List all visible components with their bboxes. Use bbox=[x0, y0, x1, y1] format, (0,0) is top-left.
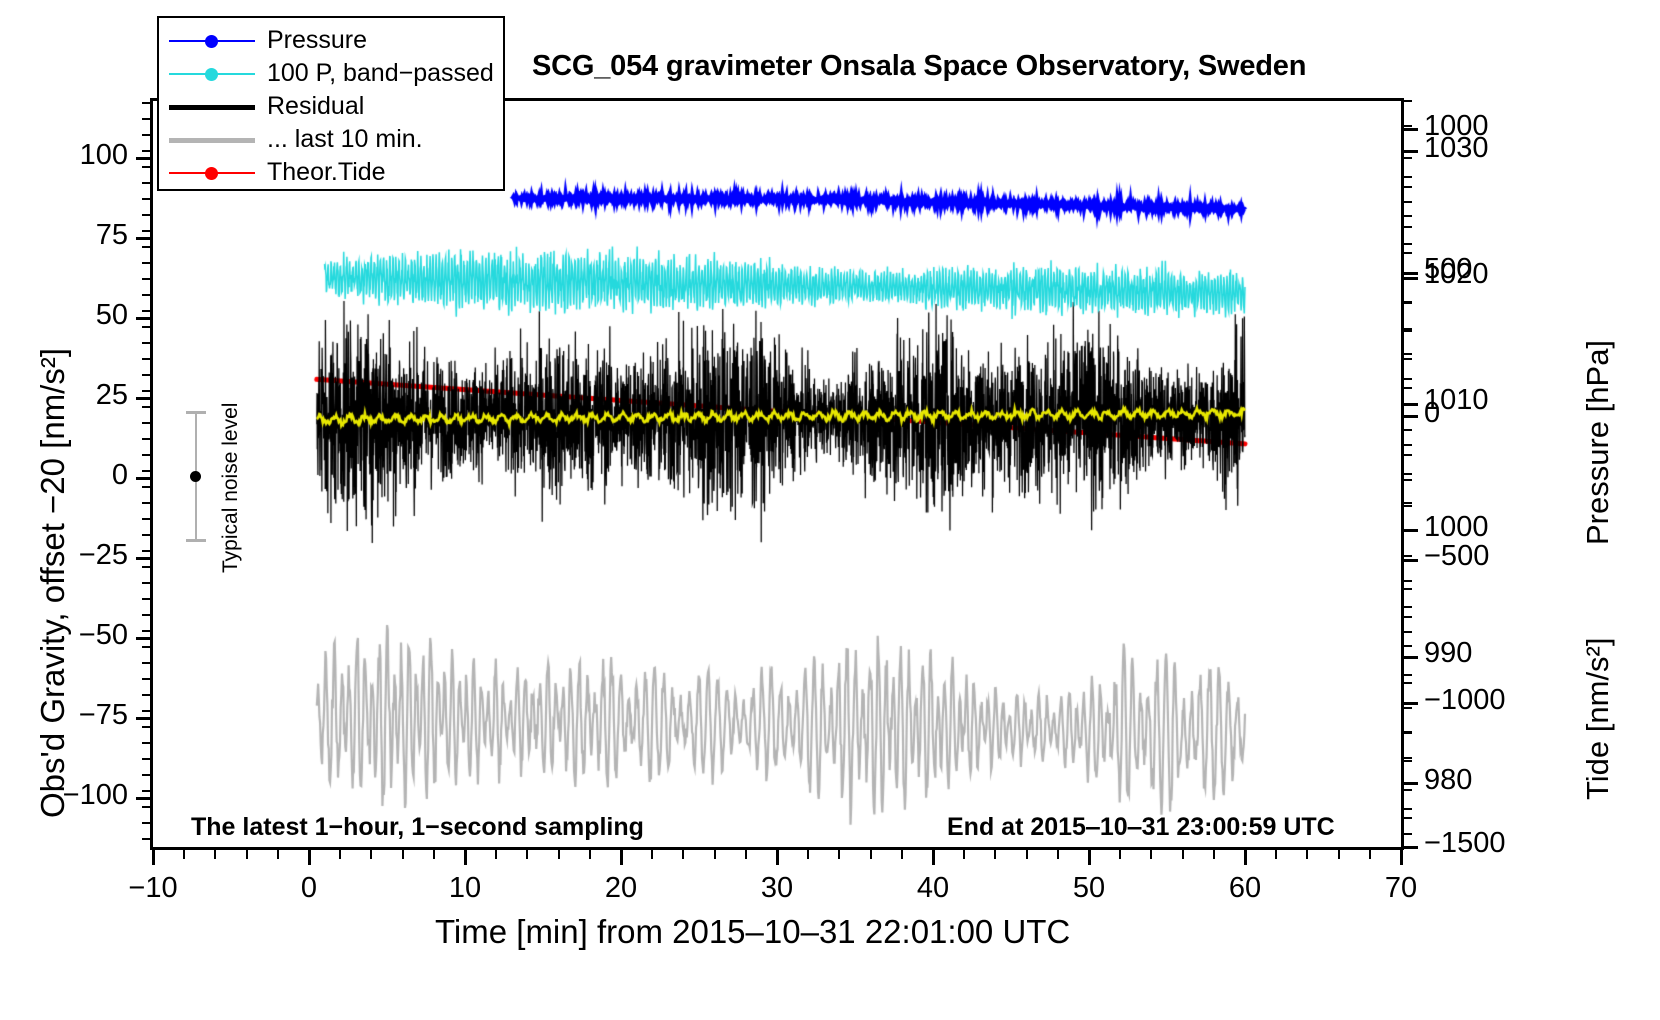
tick-mark bbox=[1404, 301, 1412, 303]
tick-mark bbox=[142, 374, 150, 376]
tick-mark bbox=[142, 662, 150, 664]
legend-swatch-theortide bbox=[169, 163, 255, 183]
tick-mark bbox=[433, 850, 435, 859]
tick-mark bbox=[142, 390, 150, 392]
tick-mark bbox=[1404, 616, 1412, 618]
tick-mark bbox=[464, 850, 467, 865]
note-latest-sampling: The latest 1−hour, 1−second sampling bbox=[191, 813, 644, 842]
tick-mark bbox=[932, 850, 935, 865]
tick-mark bbox=[682, 850, 684, 859]
plot-area: The latest 1−hour, 1−second sampling End… bbox=[150, 98, 1404, 850]
y-tick-label-pressure: 990 bbox=[1424, 637, 1472, 670]
x-tick-label: 40 bbox=[863, 872, 1003, 905]
tick-mark bbox=[1404, 215, 1412, 217]
tick-mark bbox=[1404, 473, 1412, 475]
tick-mark bbox=[142, 422, 150, 424]
tick-mark bbox=[142, 534, 150, 536]
legend-swatch-bandpassed bbox=[169, 64, 255, 84]
tick-mark bbox=[136, 557, 150, 560]
tick-mark bbox=[1404, 176, 1412, 178]
x-axis-title: Time [min] from 2015‒10‒31 22:01:00 UTC bbox=[435, 913, 1070, 951]
tick-mark bbox=[142, 838, 150, 840]
legend-marker bbox=[205, 68, 218, 81]
tick-mark bbox=[776, 850, 779, 865]
tick-mark bbox=[142, 726, 150, 728]
y-tick-label-tide: 0 bbox=[1424, 397, 1440, 430]
tick-mark bbox=[136, 317, 150, 320]
tick-mark bbox=[1404, 846, 1418, 849]
legend-swatch-pressure bbox=[169, 31, 255, 51]
legend-line bbox=[169, 138, 255, 143]
tick-mark bbox=[1400, 850, 1403, 865]
tick-mark bbox=[308, 850, 311, 865]
legend-item-last10[interactable]: ... last 10 min. bbox=[159, 123, 503, 156]
tick-mark bbox=[370, 850, 372, 859]
y-axis-title-left: Obs'd Gravity, offset −20 [nm/s²] bbox=[34, 348, 72, 818]
tick-mark bbox=[558, 850, 560, 859]
tick-mark bbox=[142, 294, 150, 296]
tick-mark bbox=[142, 166, 150, 168]
tick-mark bbox=[142, 598, 150, 600]
noise-level-dot bbox=[190, 471, 201, 482]
tick-mark bbox=[963, 850, 965, 859]
tick-mark bbox=[1404, 760, 1412, 762]
tick-mark bbox=[901, 850, 903, 859]
tick-mark bbox=[1404, 645, 1412, 647]
tick-mark bbox=[142, 550, 150, 552]
tick-mark bbox=[1404, 530, 1412, 532]
tick-mark bbox=[1275, 850, 1277, 859]
noise-level-label: Typical noise level bbox=[219, 403, 243, 573]
tick-mark bbox=[1404, 479, 1412, 481]
tick-mark bbox=[1404, 702, 1418, 705]
y-tick-label-tide: 1000 bbox=[1424, 110, 1489, 143]
tick-mark bbox=[1404, 731, 1412, 733]
tick-mark bbox=[589, 850, 591, 859]
legend-label-residual: Residual bbox=[255, 92, 364, 121]
tick-mark bbox=[651, 850, 653, 859]
y-tick-label-pressure: 1000 bbox=[1424, 511, 1489, 544]
tick-mark bbox=[1404, 150, 1418, 153]
tick-mark bbox=[136, 397, 150, 400]
tick-mark bbox=[1404, 243, 1412, 245]
tick-mark bbox=[1404, 415, 1418, 418]
tick-mark bbox=[142, 150, 150, 152]
tick-mark bbox=[142, 134, 150, 136]
x-tick-label: 10 bbox=[395, 872, 535, 905]
x-tick-label: 20 bbox=[551, 872, 691, 905]
tick-mark bbox=[994, 850, 996, 859]
y-axis-title-pressure: Pressure [hPa] bbox=[1580, 340, 1616, 545]
tick-mark bbox=[142, 262, 150, 264]
tick-mark bbox=[142, 678, 150, 680]
tick-mark bbox=[1404, 201, 1412, 203]
tick-mark bbox=[142, 822, 150, 824]
tick-mark bbox=[142, 710, 150, 712]
tick-mark bbox=[1404, 252, 1412, 254]
tick-mark bbox=[142, 502, 150, 504]
legend-swatch-last10 bbox=[169, 130, 255, 150]
tick-mark bbox=[838, 850, 840, 859]
y-tick-label-tide: 500 bbox=[1424, 253, 1472, 286]
tick-mark bbox=[1088, 850, 1091, 865]
tick-mark bbox=[136, 157, 150, 160]
tick-mark bbox=[1369, 850, 1371, 859]
tick-mark bbox=[1404, 403, 1418, 406]
tick-mark bbox=[495, 850, 497, 859]
y-tick-label-left: −25 bbox=[0, 539, 128, 572]
tick-mark bbox=[1404, 674, 1412, 676]
tick-mark bbox=[142, 230, 150, 232]
tick-mark bbox=[1306, 850, 1308, 859]
tick-mark bbox=[714, 850, 716, 859]
tick-mark bbox=[1404, 808, 1412, 810]
tick-mark bbox=[1150, 850, 1152, 859]
tick-mark bbox=[1404, 789, 1412, 791]
tick-mark bbox=[1213, 850, 1215, 859]
tick-mark bbox=[1404, 817, 1412, 819]
tick-mark bbox=[136, 237, 150, 240]
tick-mark bbox=[1404, 454, 1412, 456]
tick-mark bbox=[1338, 850, 1340, 859]
x-tick-label: 50 bbox=[1019, 872, 1159, 905]
tick-mark bbox=[142, 470, 150, 472]
tick-mark bbox=[339, 850, 341, 859]
tick-mark bbox=[142, 214, 150, 216]
tick-mark bbox=[142, 614, 150, 616]
y-axis-title-tide: Tide [nm/s²] bbox=[1580, 638, 1616, 801]
legend-label-last10: ... last 10 min. bbox=[255, 125, 423, 154]
tick-mark bbox=[1404, 330, 1412, 332]
tick-mark bbox=[1404, 631, 1412, 633]
tick-mark bbox=[142, 326, 150, 328]
tick-mark bbox=[142, 630, 150, 632]
legend-line bbox=[169, 105, 255, 110]
y-tick-label-tide: −500 bbox=[1424, 540, 1489, 573]
tick-mark bbox=[136, 797, 150, 800]
tick-mark bbox=[1404, 555, 1412, 557]
y-tick-label-tide: −1500 bbox=[1424, 827, 1505, 860]
x-tick-label: −10 bbox=[83, 872, 223, 905]
tick-mark bbox=[1404, 833, 1412, 835]
legend-item-theortide[interactable]: Theor.Tide bbox=[159, 156, 503, 189]
tick-mark bbox=[1057, 850, 1059, 859]
tick-mark bbox=[142, 582, 150, 584]
legend-swatch-residual bbox=[169, 97, 255, 117]
tick-mark bbox=[1404, 358, 1412, 360]
tick-mark bbox=[1404, 378, 1412, 380]
tick-mark bbox=[1404, 128, 1418, 131]
tick-mark bbox=[1404, 157, 1412, 159]
legend-item-bandpassed[interactable]: 100 P, band−passed bbox=[159, 57, 503, 90]
tick-mark bbox=[142, 246, 150, 248]
legend-marker bbox=[205, 167, 218, 180]
tick-mark bbox=[142, 774, 150, 776]
tick-mark bbox=[142, 694, 150, 696]
tick-mark bbox=[142, 198, 150, 200]
tick-mark bbox=[142, 278, 150, 280]
tick-mark bbox=[1244, 850, 1247, 865]
tick-mark bbox=[142, 806, 150, 808]
x-tick-label: 0 bbox=[239, 872, 379, 905]
tick-mark bbox=[526, 850, 528, 859]
x-tick-label: 70 bbox=[1331, 872, 1471, 905]
tick-mark bbox=[142, 566, 150, 568]
tick-mark bbox=[1404, 559, 1418, 562]
tick-mark bbox=[152, 850, 155, 865]
tick-mark bbox=[142, 790, 150, 792]
tick-mark bbox=[1404, 656, 1418, 659]
y-tick-label-left: 25 bbox=[0, 379, 128, 412]
y-tick-label-left: 100 bbox=[0, 139, 128, 172]
y-tick-label-tide: −1000 bbox=[1424, 684, 1505, 717]
tick-mark bbox=[142, 438, 150, 440]
y-tick-label-left: 75 bbox=[0, 219, 128, 252]
tick-mark bbox=[142, 758, 150, 760]
tick-mark bbox=[1404, 186, 1412, 188]
tick-mark bbox=[1404, 580, 1412, 582]
tick-mark bbox=[1404, 502, 1412, 504]
y-tick-label-left: −75 bbox=[0, 699, 128, 732]
y-tick-label-left: −100 bbox=[0, 779, 128, 812]
legend-label-theortide: Theor.Tide bbox=[255, 158, 386, 187]
tick-mark bbox=[142, 182, 150, 184]
tick-mark bbox=[136, 637, 150, 640]
tick-mark bbox=[142, 358, 150, 360]
legend-item-pressure[interactable]: Pressure bbox=[159, 24, 503, 57]
tick-mark bbox=[1404, 353, 1412, 355]
chart-title: SCG_054 gravimeter Onsala Space Observat… bbox=[532, 50, 1306, 83]
legend-label-pressure: Pressure bbox=[255, 26, 367, 55]
x-tick-label: 30 bbox=[707, 872, 847, 905]
tick-mark bbox=[1404, 125, 1412, 127]
tick-mark bbox=[1404, 606, 1412, 608]
tick-mark bbox=[1404, 226, 1412, 228]
note-end-time: End at 2015‒10‒31 23:00:59 UTC bbox=[947, 813, 1335, 842]
tick-mark bbox=[1404, 429, 1412, 431]
tick-mark bbox=[1404, 707, 1412, 709]
tick-mark bbox=[142, 518, 150, 520]
tick-mark bbox=[807, 850, 809, 859]
x-tick-label: 60 bbox=[1175, 872, 1315, 905]
chart-legend: Pressure 100 P, band−passed Residual ...… bbox=[157, 16, 505, 191]
tick-mark bbox=[402, 850, 404, 859]
tick-mark bbox=[1404, 444, 1412, 446]
tick-mark bbox=[246, 850, 248, 859]
tick-mark bbox=[142, 102, 150, 104]
tick-mark bbox=[183, 850, 185, 859]
legend-label-bandpassed: 100 P, band−passed bbox=[255, 59, 494, 88]
noise-level-cap-top bbox=[186, 411, 206, 414]
tick-mark bbox=[1404, 682, 1412, 684]
tick-mark bbox=[1404, 588, 1412, 590]
tick-mark bbox=[1404, 277, 1418, 280]
tick-mark bbox=[1026, 850, 1028, 859]
tick-mark bbox=[142, 406, 150, 408]
tick-mark bbox=[620, 850, 623, 865]
tick-mark bbox=[870, 850, 872, 859]
y-tick-label-left: 50 bbox=[0, 299, 128, 332]
tick-mark bbox=[142, 742, 150, 744]
legend-item-residual[interactable]: Residual bbox=[159, 90, 503, 123]
tick-mark bbox=[1404, 100, 1412, 102]
tick-mark bbox=[214, 850, 216, 859]
y-tick-label-left: 0 bbox=[0, 459, 128, 492]
legend-marker bbox=[205, 35, 218, 48]
tick-mark bbox=[745, 850, 747, 859]
tick-mark bbox=[1404, 505, 1412, 507]
tick-mark bbox=[142, 646, 150, 648]
noise-level-cap-bottom bbox=[186, 539, 206, 542]
tick-mark bbox=[142, 310, 150, 312]
tick-mark bbox=[1404, 782, 1418, 785]
tick-mark bbox=[1119, 850, 1121, 859]
tick-mark bbox=[1182, 850, 1184, 859]
tick-mark bbox=[142, 454, 150, 456]
y-tick-label-pressure: 980 bbox=[1424, 764, 1472, 797]
plot-canvas bbox=[153, 101, 1401, 847]
tick-mark bbox=[142, 342, 150, 344]
tick-mark bbox=[136, 717, 150, 720]
tick-mark bbox=[1404, 272, 1418, 275]
tick-mark bbox=[136, 477, 150, 480]
tick-mark bbox=[277, 850, 279, 859]
tick-mark bbox=[142, 486, 150, 488]
tick-mark bbox=[142, 118, 150, 120]
y-tick-label-left: −50 bbox=[0, 619, 128, 652]
tick-mark bbox=[1404, 387, 1412, 389]
